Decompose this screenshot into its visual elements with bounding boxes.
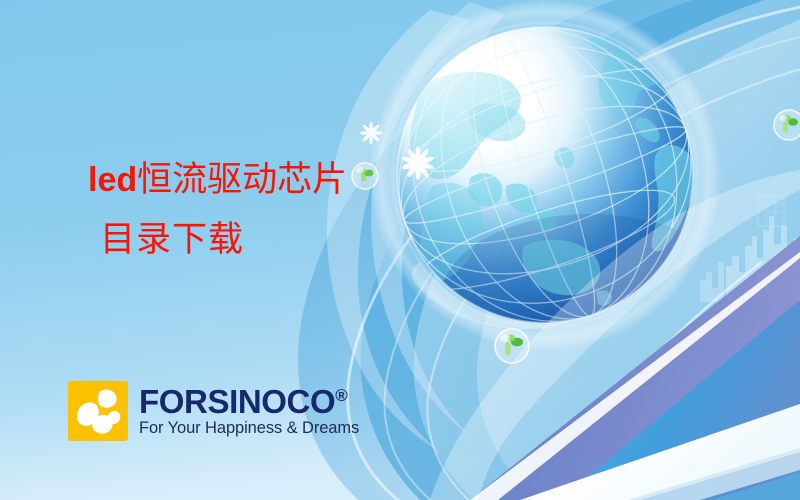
registered-trademark-icon: ® bbox=[335, 386, 347, 405]
logo-tagline: For Your Happiness & Dreams bbox=[139, 419, 359, 438]
company-logo: FORSINOCO® For Your Happiness & Dreams bbox=[68, 381, 359, 441]
logo-name-text: FORSINOCO bbox=[139, 383, 335, 420]
banner-canvas: led恒流驱动芯片 目录下载 FORSINOCO® For Your Happi… bbox=[0, 0, 800, 500]
bubble-sprout-icon bbox=[774, 110, 800, 140]
bubble-sprout-icon bbox=[495, 329, 529, 363]
headline-latin-prefix: led bbox=[88, 161, 137, 199]
headline-line-1: led恒流驱动芯片 bbox=[88, 162, 347, 199]
four-petal-flower-icon bbox=[68, 381, 128, 441]
flower-sparkle-icon bbox=[359, 121, 382, 144]
logo-company-name: FORSINOCO® bbox=[139, 385, 359, 418]
headline-line-2: 目录下载 bbox=[100, 222, 347, 259]
logo-wordmark: FORSINOCO® For Your Happiness & Dreams bbox=[139, 385, 359, 438]
headline-cjk-suffix: 恒流驱动芯片 bbox=[137, 160, 347, 199]
bubble-sprout-icon bbox=[352, 163, 378, 189]
headline-text: led恒流驱动芯片 目录下载 bbox=[88, 162, 347, 259]
